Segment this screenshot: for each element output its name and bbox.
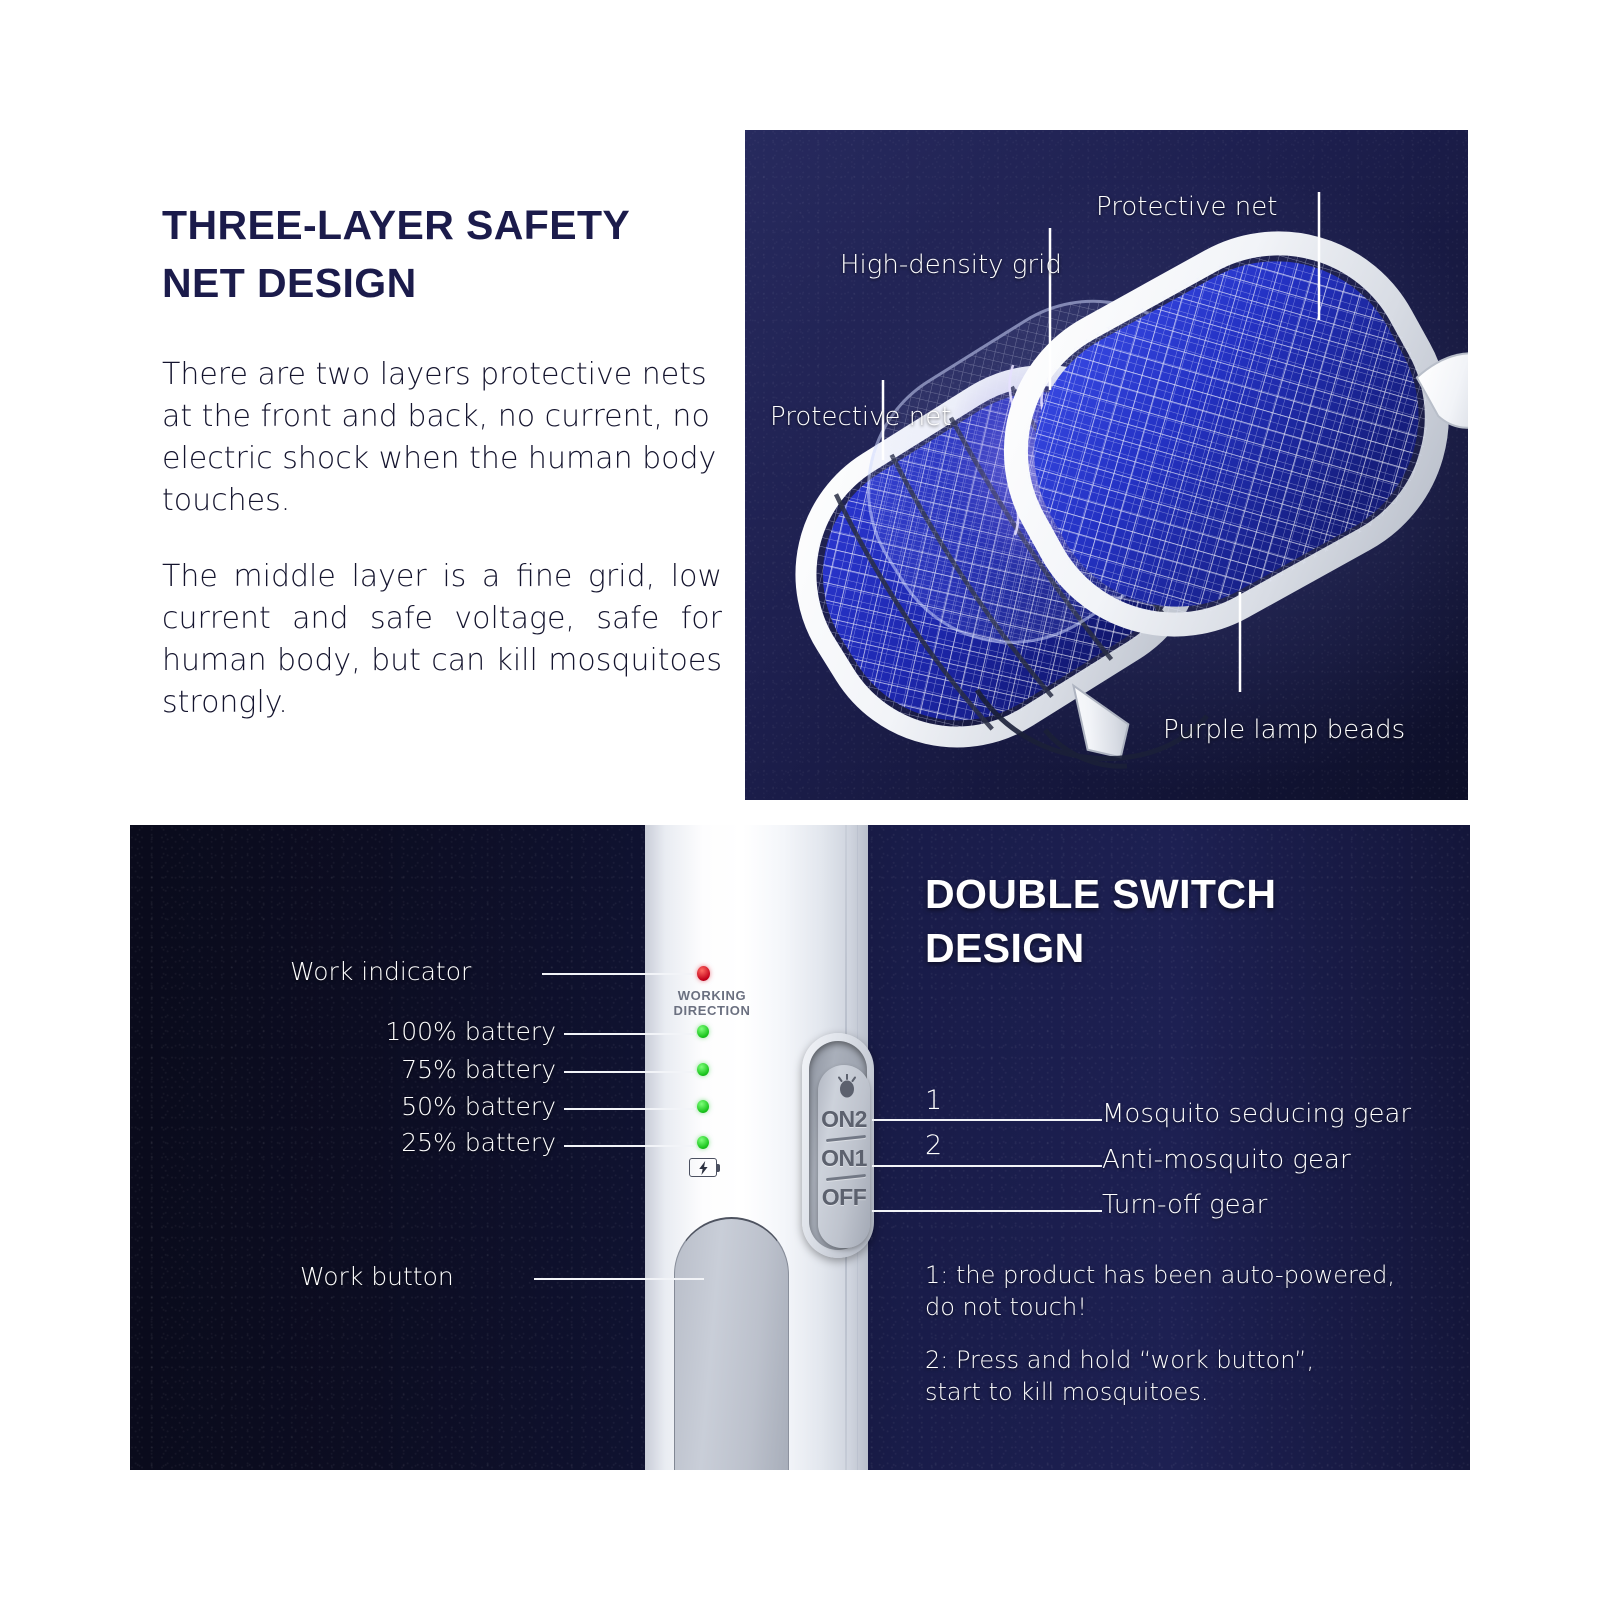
- callout-protective-net-top: Protective net: [1096, 192, 1277, 222]
- switch-label-off: OFF: [818, 1184, 870, 1211]
- leader-battery-50: [564, 1108, 696, 1110]
- gear-label-turn-off: Turn-off gear: [1102, 1190, 1267, 1220]
- top-paragraph-1: There are two layers protective nets at …: [162, 354, 722, 522]
- three-layer-safety-section: THREE-LAYER SAFETY NET DESIGN There are …: [0, 0, 1600, 810]
- product-image-panel: Protective net High-density grid Protect…: [745, 130, 1468, 800]
- top-paragraph-2: The middle layer is a fine grid, low cur…: [162, 556, 722, 724]
- page-title: THREE-LAYER SAFETY NET DESIGN: [162, 196, 722, 312]
- leader-work-indicator: [542, 973, 694, 975]
- leader-battery-25: [564, 1145, 696, 1147]
- leader-gear-2: [872, 1165, 1102, 1167]
- battery-led-100: [697, 1025, 709, 1038]
- switch-divider-1: [826, 1135, 866, 1142]
- switch-divider-2: [826, 1174, 866, 1181]
- racket-illustration: [745, 130, 1468, 800]
- section-title: DOUBLE SWITCH DESIGN: [925, 867, 1395, 975]
- label-work-indicator: Work indicator: [290, 957, 471, 986]
- top-text-block: THREE-LAYER SAFETY NET DESIGN There are …: [162, 196, 722, 724]
- label-battery-25: 25% battery: [282, 1128, 556, 1157]
- gear-label-mosquito-seducing: Mosquito seducing gear: [1102, 1099, 1411, 1129]
- battery-charging-icon: [689, 1158, 717, 1177]
- leader-gear-3: [872, 1210, 1102, 1212]
- leader-battery-75: [564, 1071, 696, 1073]
- leader-battery-100: [564, 1033, 696, 1035]
- label-battery-75: 75% battery: [282, 1055, 556, 1084]
- gear-label-anti-mosquito: Anti-mosquito gear: [1102, 1145, 1351, 1175]
- switch-slider-knob[interactable]: ON2 ON1 OFF: [818, 1065, 870, 1248]
- switch-label-on2: ON2: [818, 1106, 870, 1133]
- leader-work-button: [534, 1278, 704, 1280]
- mode-switch[interactable]: ON2 ON1 OFF: [802, 1033, 874, 1258]
- note-2: 2: Press and hold “work button”, start t…: [925, 1345, 1314, 1408]
- callout-protective-net-left: Protective net: [770, 402, 951, 432]
- label-battery-50: 50% battery: [282, 1092, 556, 1121]
- battery-led-50: [697, 1100, 709, 1113]
- double-switch-section: WORKING DIRECTION O: [130, 825, 1470, 1470]
- work-indicator-led: [697, 966, 710, 981]
- leader-gear-1: [872, 1119, 1102, 1121]
- gear-number-2: 2: [925, 1130, 942, 1161]
- working-direction-label: WORKING DIRECTION: [653, 988, 771, 1018]
- lamp-bulb-icon: [835, 1074, 859, 1100]
- battery-led-25: [697, 1136, 709, 1149]
- lightning-bolt-glyph: [697, 1161, 710, 1175]
- work-button[interactable]: [674, 1217, 789, 1470]
- switch-label-on1: ON1: [818, 1145, 870, 1172]
- note-1: 1: the product has been auto-powered, do…: [925, 1260, 1395, 1323]
- gear-number-1: 1: [925, 1085, 942, 1116]
- label-battery-100: 100% battery: [282, 1017, 556, 1046]
- switch-recess: ON2 ON1 OFF: [809, 1041, 867, 1250]
- callout-purple-lamp-beads: Purple lamp beads: [1163, 715, 1405, 745]
- callout-high-density-grid: High-density grid: [840, 250, 1062, 280]
- label-work-button: Work button: [300, 1262, 454, 1291]
- battery-led-75: [697, 1063, 709, 1076]
